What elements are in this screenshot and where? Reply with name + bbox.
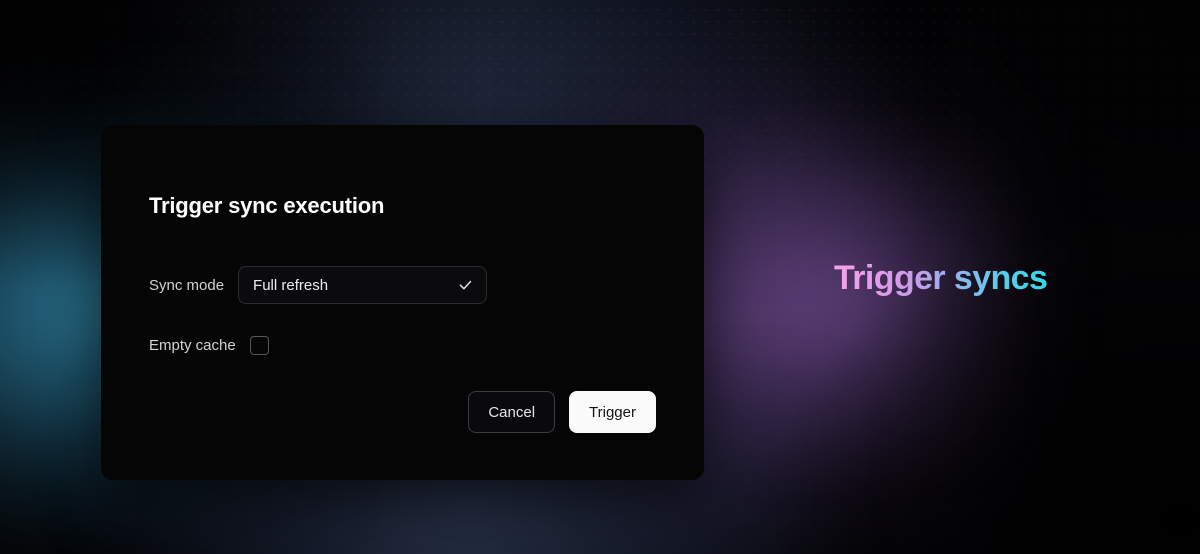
sync-mode-label: Sync mode bbox=[149, 278, 224, 293]
screen: Trigger sync execution Sync mode Full re… bbox=[0, 0, 1200, 554]
trigger-button[interactable]: Trigger bbox=[569, 391, 656, 433]
check-icon bbox=[458, 278, 473, 293]
modal-action-bar: Cancel Trigger bbox=[468, 391, 656, 433]
cancel-button[interactable]: Cancel bbox=[468, 391, 555, 433]
trigger-sync-modal: Trigger sync execution Sync mode Full re… bbox=[101, 125, 704, 480]
headline-trigger-syncs: Trigger syncs bbox=[834, 258, 1047, 299]
sync-mode-select[interactable]: Full refresh bbox=[238, 266, 487, 304]
empty-cache-label: Empty cache bbox=[149, 338, 236, 353]
sync-mode-selected-value: Full refresh bbox=[253, 278, 328, 293]
empty-cache-checkbox[interactable] bbox=[250, 336, 269, 355]
field-sync-mode: Sync mode Full refresh bbox=[149, 266, 656, 304]
modal-title: Trigger sync execution bbox=[149, 195, 656, 217]
field-empty-cache: Empty cache bbox=[149, 336, 656, 355]
glow-violet-right bbox=[690, 150, 990, 450]
